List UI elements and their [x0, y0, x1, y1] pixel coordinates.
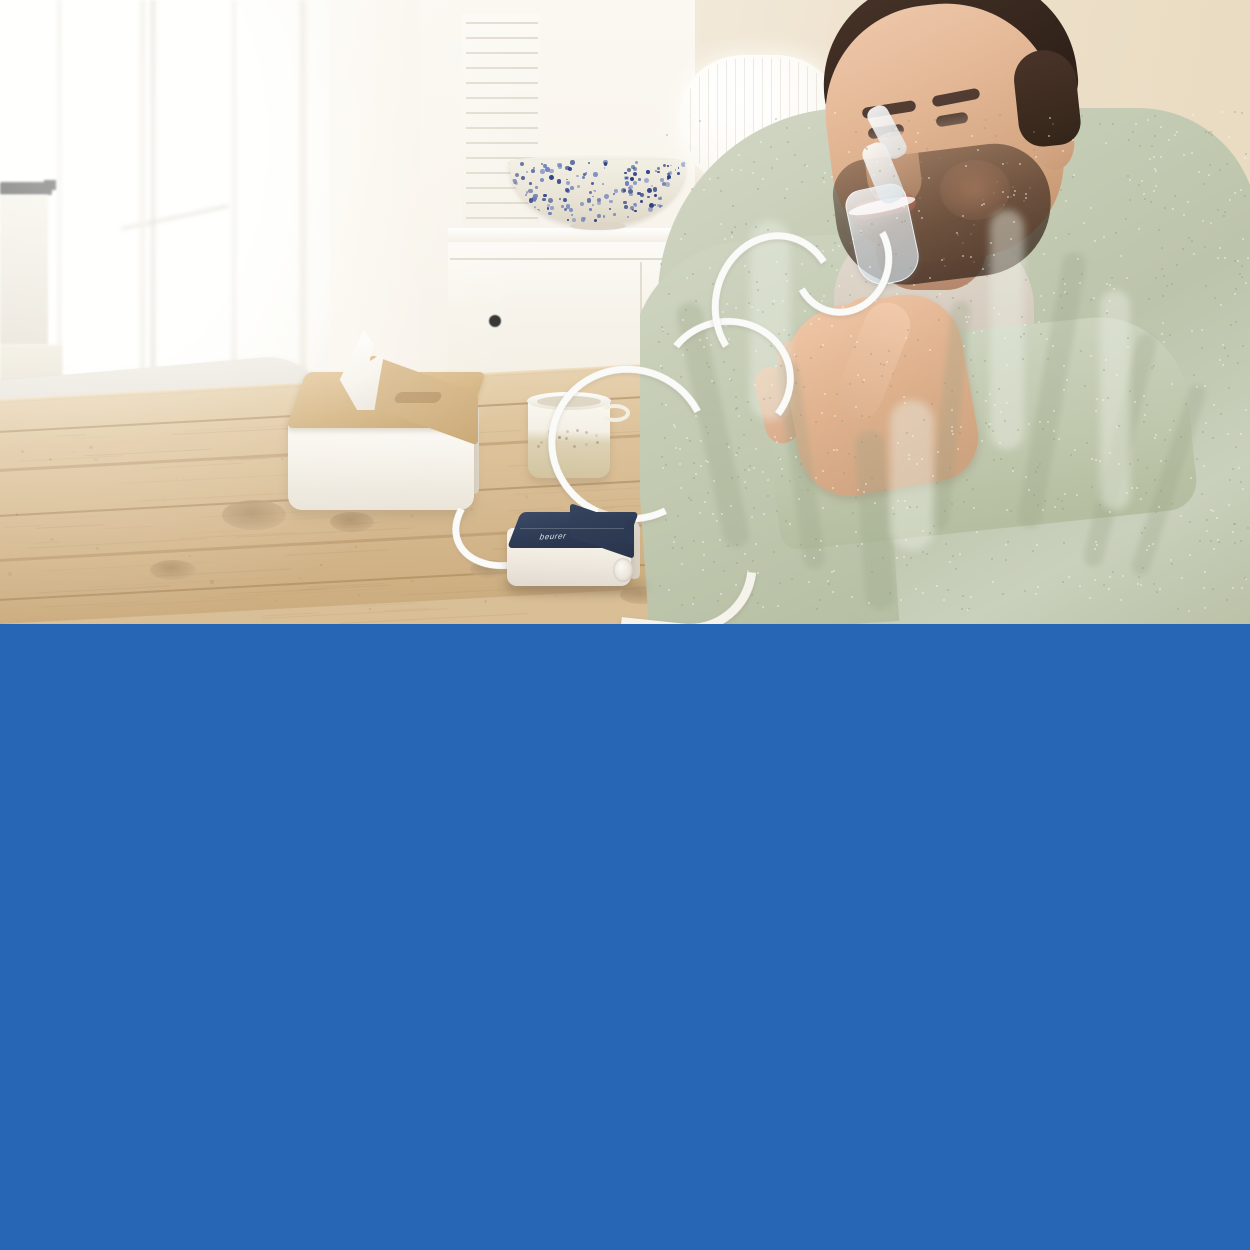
fleece-fiber: [1020, 336, 1022, 338]
wood-speck: [299, 577, 302, 580]
fleece-fiber: [857, 545, 859, 547]
fleece-fiber: [745, 223, 747, 225]
wood-speck: [281, 458, 283, 460]
fleece-fiber: [804, 555, 806, 557]
bowl-speckle: [542, 198, 546, 202]
fleece-fiber: [863, 379, 865, 381]
fleece-fiber: [1126, 492, 1128, 494]
fleece-fiber: [1232, 468, 1234, 470]
fleece-fiber: [1240, 540, 1242, 542]
fleece-fiber: [1127, 346, 1129, 348]
fleece-fiber: [1099, 504, 1101, 506]
fleece-fiber: [667, 333, 669, 335]
fleece-fiber: [913, 284, 915, 286]
fleece-fiber: [1077, 258, 1079, 260]
bowl-speckle: [613, 193, 615, 195]
fleece-fiber: [808, 581, 810, 583]
fleece-fiber: [905, 337, 907, 339]
bowl-speckle: [529, 182, 532, 185]
fleece-fiber: [1111, 277, 1113, 279]
wood-speck: [210, 580, 214, 584]
fleece-fiber: [1066, 293, 1068, 295]
fleece-fiber: [1053, 430, 1055, 432]
fleece-fiber: [1106, 312, 1108, 314]
fleece-fiber: [1076, 494, 1078, 496]
bowl-speckle: [566, 181, 570, 185]
fleece-fiber: [1161, 268, 1163, 270]
fleece-fiber: [963, 345, 965, 347]
fleece-fiber: [1115, 232, 1117, 234]
fleece-fiber: [989, 393, 991, 395]
bowl-speckle: [613, 213, 616, 216]
fleece-fiber: [1154, 437, 1156, 439]
fleece-fiber: [1061, 307, 1063, 309]
fleece-fiber: [820, 540, 822, 542]
blanket-highlight: [1100, 290, 1130, 510]
fleece-fiber: [939, 157, 941, 159]
fleece-fiber: [1220, 413, 1222, 415]
bowl-speckle: [635, 161, 638, 164]
bowl-speckle: [634, 203, 638, 207]
fleece-fiber: [1193, 253, 1195, 255]
fleece-fiber: [668, 170, 670, 172]
fleece-fiber: [790, 437, 792, 439]
fleece-fiber: [1210, 222, 1212, 224]
fleece-fiber: [1013, 194, 1015, 196]
fleece-fiber: [727, 123, 729, 125]
fleece-fiber: [1140, 584, 1142, 586]
fleece-fiber: [774, 436, 776, 438]
fleece-fiber: [1213, 404, 1215, 406]
fleece-fiber: [893, 175, 895, 177]
fleece-fiber: [1146, 467, 1148, 469]
product-feature-card: beurer Inhalation for every day Ideal fo…: [0, 0, 1250, 1250]
fleece-fiber: [1151, 145, 1153, 147]
fleece-fiber: [1154, 115, 1156, 117]
fleece-fiber: [794, 154, 796, 156]
fleece-fiber: [1192, 114, 1194, 116]
fleece-fiber: [1234, 260, 1236, 262]
fleece-fiber: [1241, 112, 1243, 114]
fleece-fiber: [1234, 111, 1236, 113]
fleece-fiber: [1062, 508, 1064, 510]
fleece-fiber: [982, 268, 984, 270]
bowl-speckle: [520, 162, 524, 166]
fleece-fiber: [890, 164, 892, 166]
bowl-speckle: [588, 162, 590, 164]
fleece-fiber: [962, 242, 964, 244]
fleece-fiber: [999, 114, 1001, 116]
fleece-fiber: [1068, 576, 1070, 578]
mug-speckle: [540, 441, 543, 444]
fleece-fiber: [1099, 123, 1101, 125]
bowl-speckle: [541, 163, 543, 165]
fleece-fiber: [973, 507, 975, 509]
fleece-fiber: [1244, 157, 1246, 159]
fleece-fiber: [1014, 190, 1016, 192]
fleece-fiber: [795, 382, 797, 384]
fleece-fiber: [1017, 429, 1019, 431]
fleece-fiber: [959, 432, 961, 434]
fleece-fiber: [1148, 298, 1150, 300]
fleece-fiber: [706, 153, 708, 155]
fleece-fiber: [1042, 428, 1044, 430]
fleece-fiber: [1143, 421, 1145, 423]
fleece-fiber: [865, 483, 867, 485]
fleece-fiber: [726, 443, 728, 445]
fleece-fiber: [781, 468, 783, 470]
bowl-speckle: [594, 190, 597, 193]
fleece-fiber: [1057, 498, 1059, 500]
bowl-speckle: [549, 175, 554, 180]
wood-speck: [410, 514, 414, 518]
fleece-fiber: [861, 441, 863, 443]
fleece-fiber: [816, 608, 818, 610]
screen-slat: [466, 52, 538, 54]
fleece-fiber: [883, 364, 885, 366]
fleece-fiber: [682, 319, 684, 321]
fleece-fiber: [856, 341, 858, 343]
bowl-speckle: [569, 208, 573, 212]
bowl-speckle: [576, 175, 579, 178]
fleece-fiber: [1166, 285, 1168, 287]
fleece-fiber: [757, 602, 759, 604]
fleece-fiber: [1234, 192, 1236, 194]
sideboard-knob: [489, 315, 501, 327]
fleece-fiber: [1054, 506, 1056, 508]
fleece-fiber: [851, 596, 853, 598]
fleece-fiber: [1183, 154, 1185, 156]
fleece-fiber: [1188, 610, 1190, 612]
fleece-fiber: [699, 120, 701, 122]
fleece-fiber: [1161, 333, 1163, 335]
fleece-fiber: [751, 516, 753, 518]
fleece-fiber: [1103, 236, 1105, 238]
fleece-fiber: [939, 293, 941, 295]
fleece-fiber: [921, 177, 923, 179]
fleece-fiber: [707, 492, 709, 494]
fleece-fiber: [993, 459, 995, 461]
screen-slat: [466, 67, 538, 69]
fleece-fiber: [1143, 193, 1145, 195]
wood-speck: [16, 513, 19, 516]
screen-slat: [466, 142, 538, 144]
bowl-speckle: [603, 215, 605, 217]
fleece-fiber: [960, 426, 962, 428]
bowl-speckle: [627, 168, 631, 172]
fleece-fiber: [951, 390, 953, 392]
fleece-fiber: [1025, 279, 1027, 281]
fleece-fiber: [1091, 486, 1093, 488]
fleece-fiber: [922, 592, 924, 594]
fleece-fiber: [972, 488, 974, 490]
fleece-fiber: [968, 316, 970, 318]
fleece-fiber: [1242, 345, 1244, 347]
fleece-fiber: [1036, 544, 1038, 546]
fleece-fiber: [690, 499, 692, 501]
fleece-fiber: [947, 589, 949, 591]
bowl-speckle: [565, 188, 568, 191]
fleece-fiber: [672, 547, 674, 549]
fleece-fiber: [1163, 275, 1165, 277]
bowl-speckle: [559, 198, 561, 200]
bowl-speckle: [535, 186, 537, 188]
fleece-fiber: [703, 554, 705, 556]
fleece-fiber: [959, 553, 961, 555]
fleece-fiber: [1105, 359, 1107, 361]
fleece-fiber: [1138, 228, 1140, 230]
bowl-speckle: [550, 206, 553, 209]
bowl-speckle: [627, 216, 629, 218]
bowl-speckle: [597, 201, 601, 205]
fleece-fiber: [775, 118, 777, 120]
bowl-speckle: [629, 185, 633, 189]
fleece-fiber: [1043, 253, 1045, 255]
bowl-speckle: [548, 212, 552, 216]
text-panel: Inhalation for every day Ideal for the s…: [0, 624, 1250, 1250]
fleece-fiber: [1028, 423, 1030, 425]
bowl-speckle: [561, 205, 564, 208]
fleece-fiber: [693, 134, 695, 136]
fleece-fiber: [1064, 291, 1066, 293]
fleece-fiber: [1217, 209, 1219, 211]
fleece-fiber: [870, 353, 872, 355]
fleece-fiber: [745, 487, 747, 489]
bowl-speckle: [567, 219, 569, 221]
fleece-fiber: [1141, 532, 1143, 534]
fleece-fiber: [770, 146, 772, 148]
bowl-speckle: [515, 173, 519, 177]
fleece-fiber: [861, 543, 863, 545]
fleece-fiber: [943, 258, 945, 260]
window-frame-vertical: [150, 0, 156, 420]
fleece-fiber: [849, 383, 851, 385]
bowl-speckle: [581, 217, 585, 221]
bowl-speckle: [531, 169, 535, 173]
wood-speck: [484, 600, 487, 603]
fleece-fiber: [1172, 208, 1174, 210]
fleece-fiber: [1170, 559, 1172, 561]
fleece-fiber: [1211, 134, 1213, 136]
fleece-fiber: [731, 231, 733, 233]
fleece-fiber: [966, 479, 968, 481]
fleece-fiber: [895, 253, 897, 255]
wood-speck: [22, 459, 23, 460]
fleece-fiber: [1072, 176, 1074, 178]
fleece-fiber: [1226, 599, 1228, 601]
fleece-fiber: [877, 125, 879, 127]
fleece-fiber: [1223, 215, 1225, 217]
fleece-fiber: [890, 385, 892, 387]
fleece-fiber: [906, 564, 908, 566]
bowl-speckle: [629, 193, 632, 196]
fleece-fiber: [970, 300, 972, 302]
device-brand-logo: beurer: [538, 531, 568, 541]
fleece-fiber: [1245, 409, 1247, 411]
fleece-fiber: [702, 541, 704, 543]
bowl-speckle: [577, 185, 580, 188]
fleece-fiber: [778, 457, 780, 459]
balcony-rail-end: [44, 180, 56, 190]
fleece-fiber: [773, 551, 775, 553]
balcony-panel: [0, 195, 48, 345]
bowl-speckle: [631, 165, 635, 169]
bowl-speckle: [609, 200, 613, 204]
fleece-fiber: [966, 283, 968, 285]
fleece-fiber: [994, 404, 996, 406]
fleece-fiber: [892, 373, 894, 375]
fleece-fiber: [1109, 300, 1111, 302]
fleece-fiber: [903, 556, 905, 558]
fleece-fiber: [896, 293, 898, 295]
fleece-fiber: [1091, 458, 1093, 460]
bowl-speckle: [568, 167, 572, 171]
bowl-speckle: [540, 178, 544, 182]
bowl-speckle: [533, 194, 537, 198]
bowl-speckle: [593, 172, 598, 177]
fleece-fiber: [982, 199, 984, 201]
fleece-fiber: [831, 176, 833, 178]
bowl-speckle: [570, 186, 574, 190]
fleece-fiber: [843, 472, 845, 474]
fleece-fiber: [1066, 379, 1068, 381]
fleece-fiber: [1216, 517, 1218, 519]
fleece-fiber: [951, 503, 953, 505]
fleece-fiber: [967, 278, 969, 280]
fleece-fiber: [1040, 295, 1042, 297]
fleece-fiber: [1193, 374, 1195, 376]
bowl-speckle: [633, 172, 637, 176]
fleece-fiber: [660, 196, 662, 198]
fleece-fiber: [1171, 563, 1173, 565]
fleece-fiber: [1032, 550, 1034, 552]
fleece-fiber: [1153, 583, 1155, 585]
fleece-fiber: [1090, 355, 1092, 357]
bowl-speckle: [548, 198, 553, 203]
fleece-fiber: [827, 452, 829, 454]
fleece-fiber: [736, 452, 738, 454]
wood-speck: [369, 608, 370, 609]
bowl-speckle: [571, 214, 573, 216]
fleece-fiber: [713, 561, 715, 563]
fleece-fiber: [1228, 387, 1230, 389]
fleece-fiber: [1162, 295, 1164, 297]
fleece-fiber: [1116, 374, 1118, 376]
bowl-speckle: [528, 189, 532, 193]
fleece-fiber: [823, 181, 825, 183]
fleece-fiber: [957, 448, 959, 450]
bowl-speckle: [526, 171, 528, 173]
bowl-speckle: [520, 215, 523, 218]
bowl-speckle: [558, 164, 563, 169]
fleece-fiber: [1196, 386, 1198, 388]
fleece-fiber: [1003, 204, 1005, 206]
bowl-speckle: [521, 176, 525, 180]
fleece-fiber: [850, 335, 852, 337]
fleece-fiber: [800, 414, 802, 416]
fleece-fiber: [915, 588, 917, 590]
screen-slat: [466, 22, 538, 24]
fleece-fiber: [666, 134, 668, 136]
bowl-speckle: [614, 189, 618, 193]
screen-slat: [466, 82, 538, 84]
fleece-fiber: [1205, 422, 1207, 424]
fleece-fiber: [1055, 237, 1057, 239]
fleece-fiber: [767, 495, 769, 497]
fleece-fiber: [1120, 255, 1122, 257]
fleece-fiber: [968, 608, 970, 610]
fleece-fiber: [1228, 136, 1230, 138]
fleece-fiber: [1171, 283, 1173, 285]
fleece-fiber: [906, 507, 908, 509]
fleece-fiber: [1235, 446, 1237, 448]
fleece-fiber: [900, 599, 902, 601]
fleece-fiber: [973, 332, 975, 334]
fleece-fiber: [1048, 135, 1050, 137]
fleece-fiber: [1169, 429, 1171, 431]
bowl-speckle: [604, 167, 606, 169]
fleece-fiber: [719, 539, 721, 541]
fleece-fiber: [786, 127, 788, 129]
fleece-fiber: [1005, 559, 1007, 561]
bowl-speckle: [547, 207, 549, 209]
fleece-fiber: [800, 463, 802, 465]
fleece-fiber: [916, 463, 918, 465]
fleece-fiber: [674, 536, 676, 538]
fleece-fiber: [1086, 442, 1088, 444]
fleece-fiber: [1212, 437, 1214, 439]
wood-speck: [89, 446, 92, 449]
fleece-fiber: [896, 557, 898, 559]
fleece-fiber: [1144, 414, 1146, 416]
bowl-speckle: [624, 205, 628, 209]
fleece-fiber: [951, 430, 953, 432]
fleece-fiber: [1072, 139, 1074, 141]
fleece-fiber: [1218, 541, 1220, 543]
fleece-fiber: [1234, 542, 1236, 544]
fleece-fiber: [962, 255, 964, 257]
screen-slat: [466, 127, 538, 129]
fleece-fiber: [1222, 344, 1224, 346]
fleece-fiber: [1047, 358, 1049, 360]
fleece-fiber: [1004, 337, 1006, 339]
fleece-fiber: [691, 188, 693, 190]
fleece-fiber: [906, 432, 908, 434]
fleece-fiber: [1164, 207, 1166, 209]
bowl-speckle: [543, 194, 546, 197]
fleece-fiber: [944, 382, 946, 384]
screen-slat: [466, 97, 538, 99]
bowl-speckle: [587, 198, 591, 202]
blanket-highlight: [990, 210, 1024, 450]
fleece-fiber: [1153, 190, 1155, 192]
fleece-fiber: [857, 374, 859, 376]
fleece-fiber: [962, 595, 964, 597]
fleece-fiber: [1021, 316, 1023, 318]
bowl-speckle: [609, 208, 611, 210]
fleece-fiber: [1224, 211, 1226, 213]
bowl-speckle: [592, 204, 594, 206]
fleece-fiber: [928, 177, 930, 179]
fleece-fiber: [922, 530, 924, 532]
fleece-fiber: [944, 265, 946, 267]
fleece-fiber: [926, 148, 928, 150]
fleece-fiber: [1109, 452, 1111, 454]
fleece-fiber: [763, 513, 765, 515]
fleece-fiber: [693, 111, 695, 113]
fleece-fiber: [985, 119, 987, 121]
fleece-fiber: [1138, 576, 1140, 578]
